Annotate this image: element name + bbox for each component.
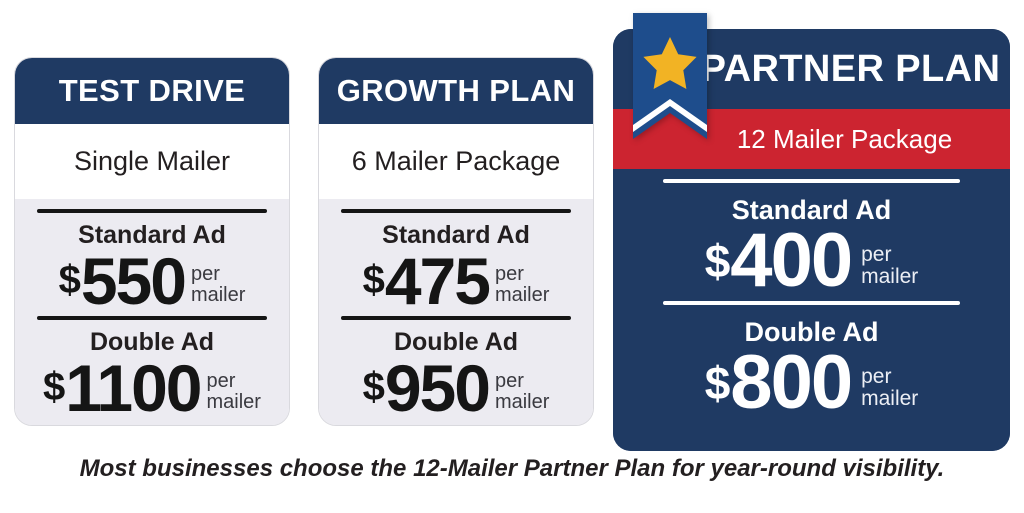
plan-pricing-growth-plan: Standard Ad $ 475 per mailer Double Ad $…: [319, 199, 593, 426]
plan-title-growth-plan: GROWTH PLAN: [319, 58, 593, 124]
featured-ribbon: [633, 13, 707, 139]
price-unit: per mailer: [191, 264, 245, 306]
plan-card-partner-plan[interactable]: PARTNER PLAN 12 Mailer Package Standard …: [613, 29, 1010, 451]
plan-card-growth-plan[interactable]: GROWTH PLAN 6 Mailer Package Standard Ad…: [318, 57, 594, 426]
price-standard: $ 550 per mailer: [59, 252, 246, 310]
price-amount: 550: [81, 252, 185, 310]
price-unit-line1: per: [206, 371, 260, 392]
price-unit-line2: mailer: [861, 266, 918, 288]
price-unit-line1: per: [191, 264, 245, 285]
plan-subtitle-growth-plan: 6 Mailer Package: [319, 124, 593, 199]
plan-card-inner: GROWTH PLAN 6 Mailer Package Standard Ad…: [318, 57, 594, 426]
divider: [341, 209, 571, 213]
price-standard: $ 400 per mailer: [705, 228, 919, 295]
price-amount: 475: [385, 252, 489, 310]
price-unit-line1: per: [861, 366, 918, 388]
price-unit: per mailer: [495, 371, 549, 413]
footer-caption: Most businesses choose the 12-Mailer Par…: [0, 455, 1024, 483]
caption-prefix: Most businesses choose the: [80, 455, 413, 482]
divider: [663, 301, 960, 305]
ribbon-icon: [633, 13, 707, 139]
price-standard: $ 475 per mailer: [363, 252, 550, 310]
price-unit-line1: per: [495, 264, 549, 285]
price-unit: per mailer: [206, 371, 260, 413]
plan-pricing-partner-plan: Standard Ad $ 400 per mailer Double Ad $…: [613, 169, 1010, 451]
price-unit-line1: per: [861, 244, 918, 266]
price-unit-line2: mailer: [206, 392, 260, 413]
price-double: $ 950 per mailer: [363, 359, 550, 417]
plan-card-inner: TEST DRIVE Single Mailer Standard Ad $ 5…: [14, 57, 290, 426]
pricing-table: TEST DRIVE Single Mailer Standard Ad $ 5…: [0, 0, 1024, 513]
price-double: $ 1100 per mailer: [43, 359, 261, 417]
price-double: $ 800 per mailer: [705, 350, 919, 417]
price-amount: 1100: [65, 359, 200, 417]
price-amount: 800: [730, 350, 851, 417]
plan-pricing-test-drive: Standard Ad $ 550 per mailer Double Ad $…: [15, 199, 289, 426]
currency-symbol: $: [59, 260, 81, 300]
divider: [37, 316, 267, 320]
currency-symbol: $: [43, 367, 65, 407]
plan-subtitle-test-drive: Single Mailer: [15, 124, 289, 199]
divider: [663, 179, 960, 183]
price-amount: 950: [385, 359, 489, 417]
currency-symbol: $: [363, 367, 385, 407]
plan-title-test-drive: TEST DRIVE: [15, 58, 289, 124]
price-amount: 400: [730, 228, 851, 295]
price-unit: per mailer: [861, 244, 918, 288]
caption-suffix: for year-round visibility.: [665, 455, 944, 482]
price-unit-line2: mailer: [191, 285, 245, 306]
price-unit-line2: mailer: [495, 285, 549, 306]
price-unit-line2: mailer: [495, 392, 549, 413]
caption-highlight: 12-Mailer Partner Plan: [413, 455, 665, 482]
currency-symbol: $: [705, 360, 731, 406]
price-unit-line2: mailer: [861, 388, 918, 410]
price-unit-line1: per: [495, 371, 549, 392]
price-unit: per mailer: [861, 366, 918, 410]
plan-card-test-drive[interactable]: TEST DRIVE Single Mailer Standard Ad $ 5…: [14, 57, 290, 426]
divider: [341, 316, 571, 320]
divider: [37, 209, 267, 213]
currency-symbol: $: [363, 260, 385, 300]
price-unit: per mailer: [495, 264, 549, 306]
currency-symbol: $: [705, 238, 731, 284]
